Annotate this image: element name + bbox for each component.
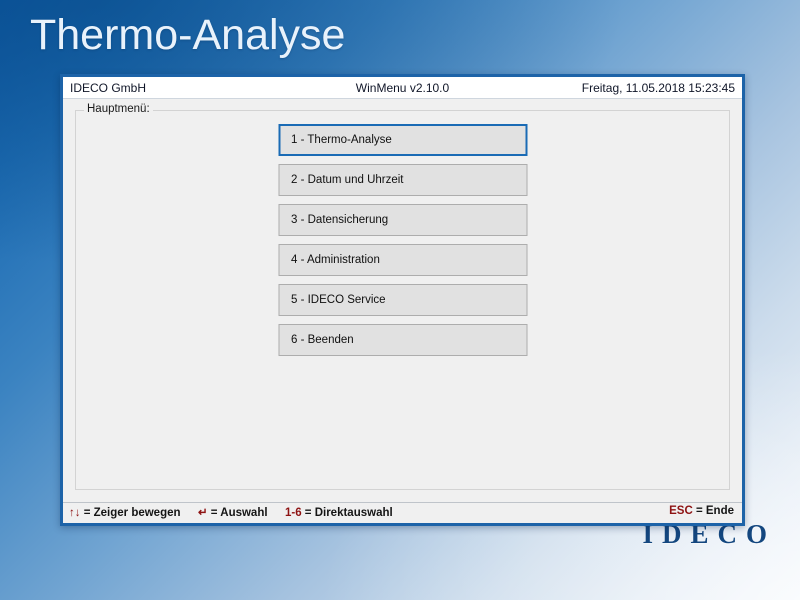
menu-item-thermo-analyse[interactable]: 1 - Thermo-Analyse: [278, 124, 527, 156]
main-menu-list: 1 - Thermo-Analyse 2 - Datum und Uhrzeit…: [278, 124, 527, 364]
window-titlebar: IDECO GmbH WinMenu v2.10.0 Freitag, 11.0…: [63, 77, 742, 99]
statusbar-hint-select-text: = Auswahl: [211, 507, 268, 519]
main-menu-groupbox: Hauptmenü: 1 - Thermo-Analyse 2 - Datum …: [75, 110, 730, 490]
desktop-background: Thermo-Analyse IDECO IDECO GmbH WinMenu …: [0, 0, 800, 600]
window-client-area: Hauptmenü: 1 - Thermo-Analyse 2 - Datum …: [63, 99, 742, 502]
menu-item-beenden[interactable]: 6 - Beenden: [278, 324, 527, 356]
page-title: Thermo-Analyse: [30, 12, 345, 59]
menu-item-ideco-service[interactable]: 5 - IDECO Service: [278, 284, 527, 316]
arrow-keys-icon: ↑↓: [69, 507, 81, 519]
window-statusbar: ↑↓ = Zeiger bewegen ↵ = Auswahl 1-6 = Di…: [63, 502, 742, 523]
statusbar-hints: ↑↓ = Zeiger bewegen ↵ = Auswahl 1-6 = Di…: [69, 505, 393, 519]
menu-item-administration[interactable]: 4 - Administration: [278, 244, 527, 276]
menu-item-datensicherung[interactable]: 3 - Datensicherung: [278, 204, 527, 236]
esc-key-icon: ESC: [669, 505, 693, 517]
titlebar-datetime: Freitag, 11.05.2018 15:23:45: [582, 81, 735, 95]
statusbar-hint-move-text: = Zeiger bewegen: [84, 507, 181, 519]
winmenu-application-window: IDECO GmbH WinMenu v2.10.0 Freitag, 11.0…: [60, 74, 745, 526]
number-keys-icon: 1-6: [285, 507, 302, 519]
main-menu-groupbox-legend: Hauptmenü:: [84, 103, 153, 115]
statusbar-exit-hint: ESC = Ende: [669, 505, 734, 517]
enter-key-icon: ↵: [198, 507, 208, 519]
statusbar-hint-direct-text: = Direktauswahl: [305, 507, 393, 519]
statusbar-hint-esc-text: = Ende: [696, 505, 734, 517]
menu-item-datum-und-uhrzeit[interactable]: 2 - Datum und Uhrzeit: [278, 164, 527, 196]
